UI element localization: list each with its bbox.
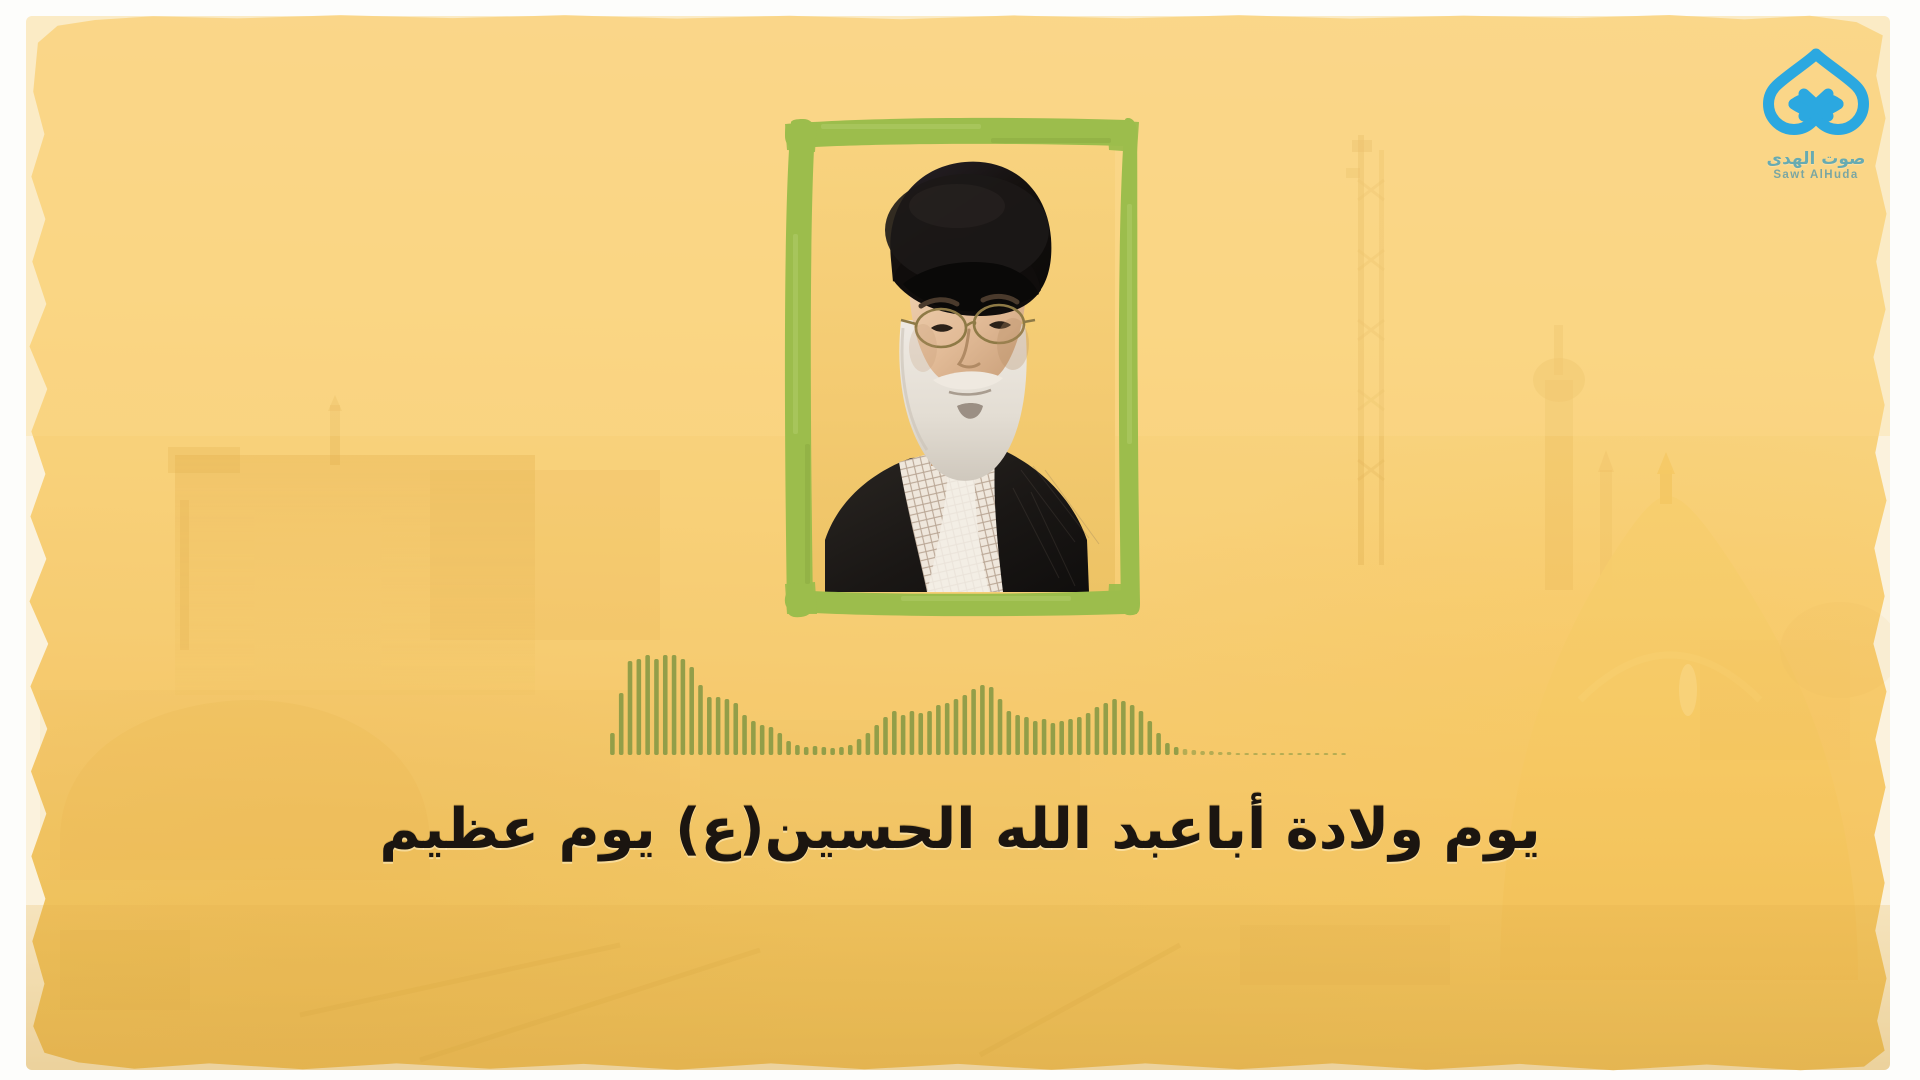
waveform-bar bbox=[1015, 715, 1020, 755]
audio-waveform[interactable] bbox=[608, 637, 1348, 759]
waveform-bar bbox=[892, 711, 897, 755]
waveform-bar bbox=[1033, 721, 1038, 755]
waveform-bar bbox=[795, 745, 800, 755]
waveform-bar bbox=[910, 711, 915, 755]
waveform-bar bbox=[1121, 701, 1126, 755]
waveform-bar bbox=[1059, 721, 1064, 755]
waveform-bar bbox=[742, 715, 747, 755]
waveform-bar bbox=[751, 721, 756, 755]
waveform-bar bbox=[654, 659, 659, 755]
waveform-bar bbox=[707, 697, 712, 755]
waveform-bar bbox=[689, 667, 694, 755]
waveform-bar bbox=[1024, 717, 1029, 755]
waveform-bar bbox=[1236, 753, 1241, 755]
waveform-bar bbox=[901, 715, 906, 755]
waveform-bar bbox=[760, 725, 765, 755]
waveform-bar bbox=[945, 703, 950, 755]
waveform-bar bbox=[927, 711, 932, 755]
waveform-bar bbox=[1200, 751, 1205, 755]
waveform-bar bbox=[1007, 711, 1012, 755]
waveform-bar bbox=[1271, 753, 1276, 755]
waveform-bar bbox=[698, 685, 703, 755]
waveform-bar bbox=[1333, 753, 1338, 755]
waveform-bar bbox=[866, 733, 871, 755]
waveform-bar bbox=[672, 655, 677, 755]
waveform-bar bbox=[1341, 753, 1346, 755]
waveform-bar bbox=[1095, 707, 1100, 755]
waveform-bar bbox=[989, 687, 994, 755]
waveform-bar bbox=[1306, 753, 1311, 755]
waveform-bar bbox=[1042, 719, 1047, 755]
waveform-bar bbox=[954, 699, 959, 755]
waveform-bar bbox=[1068, 719, 1073, 755]
waveform-bar bbox=[725, 699, 730, 755]
waveform-bar bbox=[1244, 753, 1249, 755]
waveform-bar bbox=[733, 703, 738, 755]
waveform-bar bbox=[1077, 717, 1082, 755]
channel-logo[interactable]: صوت الهدى Sawt AlHuda bbox=[1752, 42, 1880, 192]
waveform-bar bbox=[681, 659, 686, 755]
waveform-bar bbox=[883, 717, 888, 755]
waveform-bar bbox=[963, 695, 968, 755]
waveform-bar bbox=[1315, 753, 1320, 755]
sawt-alhuda-heart-icon[interactable] bbox=[1760, 42, 1872, 146]
waveform-bar bbox=[619, 693, 624, 755]
waveform-bar bbox=[778, 733, 783, 755]
waveform-bar bbox=[1139, 711, 1144, 755]
waveform-bar bbox=[786, 741, 791, 755]
waveform-bar bbox=[716, 697, 721, 755]
waveform-bar bbox=[1148, 721, 1153, 755]
waveform-bar bbox=[936, 705, 941, 755]
video-frame: يوم ولادة أباعبد الله الحسين(ع) يوم عظيم… bbox=[0, 0, 1920, 1080]
waveform-bars[interactable] bbox=[608, 637, 1348, 759]
waveform-bar bbox=[1227, 752, 1232, 755]
waveform-bar bbox=[1192, 750, 1197, 755]
portrait-card bbox=[781, 114, 1141, 620]
waveform-bar bbox=[804, 747, 809, 755]
waveform-bar bbox=[628, 661, 633, 755]
waveform-bar bbox=[830, 748, 835, 755]
waveform-bar bbox=[1130, 705, 1135, 755]
waveform-bar bbox=[1288, 753, 1293, 755]
waveform-bar bbox=[663, 655, 668, 755]
caption-subtitle: يوم ولادة أباعبد الله الحسين(ع) يوم عظيم bbox=[0, 795, 1920, 865]
waveform-bar bbox=[848, 745, 853, 755]
waveform-bar bbox=[637, 659, 642, 755]
waveform-bar bbox=[874, 725, 879, 755]
waveform-bar bbox=[1209, 751, 1214, 755]
waveform-bar bbox=[1156, 733, 1161, 755]
waveform-bar bbox=[1174, 747, 1179, 755]
waveform-bar bbox=[1103, 703, 1108, 755]
waveform-bar bbox=[980, 685, 985, 755]
waveform-bar bbox=[857, 739, 862, 755]
waveform-bar bbox=[1253, 753, 1258, 755]
waveform-bar bbox=[610, 733, 615, 755]
waveform-bar bbox=[1324, 753, 1329, 755]
waveform-bar bbox=[839, 747, 844, 755]
waveform-bar bbox=[1297, 753, 1302, 755]
waveform-bar bbox=[1086, 713, 1091, 755]
logo-latin-name: Sawt AlHuda bbox=[1752, 169, 1880, 183]
waveform-bar bbox=[1051, 723, 1056, 755]
waveform-bar bbox=[971, 689, 976, 755]
brush-frame bbox=[781, 114, 1141, 620]
waveform-bar bbox=[1183, 749, 1188, 755]
waveform-bar bbox=[918, 713, 923, 755]
waveform-bar bbox=[813, 746, 818, 755]
waveform-bar bbox=[1262, 753, 1267, 755]
waveform-bar bbox=[822, 747, 827, 755]
waveform-bar bbox=[1165, 743, 1170, 755]
waveform-bar bbox=[1280, 753, 1285, 755]
waveform-bar bbox=[769, 727, 774, 755]
waveform-bar bbox=[1112, 699, 1117, 755]
waveform-bar bbox=[645, 655, 650, 755]
logo-arabic-name: صوت الهدى bbox=[1752, 150, 1880, 169]
waveform-bar bbox=[998, 699, 1003, 755]
waveform-bar bbox=[1218, 752, 1223, 755]
